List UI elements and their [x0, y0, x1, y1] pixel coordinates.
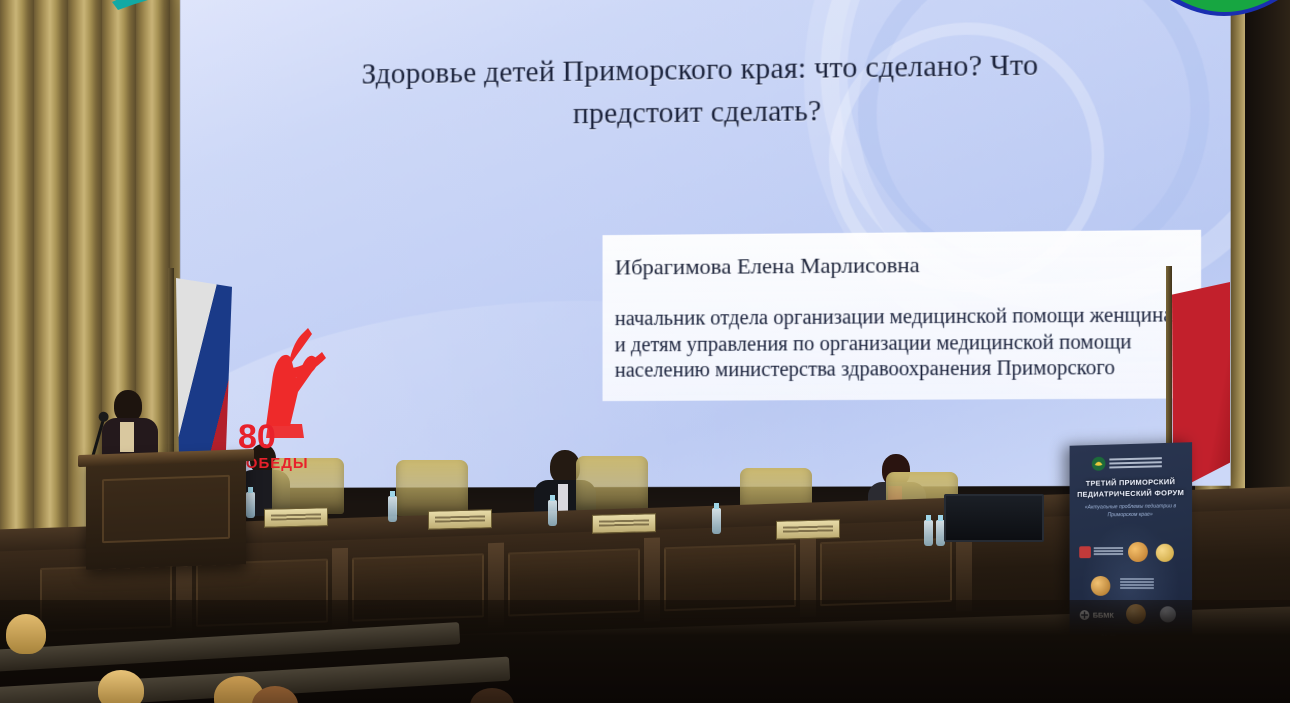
- water-bottle: [712, 508, 721, 534]
- water-bottle: [246, 492, 255, 518]
- podium-panel: [102, 475, 230, 543]
- primorsky-krai-tiger-emblem-icon: [1166, 0, 1282, 26]
- audience-head: [6, 614, 46, 654]
- audience-head: [470, 688, 514, 703]
- water-bottle: [548, 500, 557, 526]
- desk-nameplate: [264, 507, 328, 528]
- presidium-monitor: [944, 494, 1044, 542]
- audience-head: [98, 670, 144, 703]
- desk-nameplate: [592, 513, 656, 534]
- projection-screen: Здоровье детей Приморского края: что сде…: [180, 0, 1231, 488]
- banner-subtitle: «Актуальные проблемы педиатрии в Приморс…: [1077, 503, 1184, 520]
- banner-icon-round-c: [1091, 576, 1110, 596]
- audience-foreground: [0, 600, 1290, 703]
- speaker-info-box: Ибрагимова Елена Марлисовна начальник от…: [603, 230, 1202, 401]
- speaker-role: начальник отдела организации медицинской…: [615, 303, 1197, 385]
- presidium-chair: [396, 460, 468, 516]
- presidium-chair: [576, 456, 648, 512]
- banner-icon-round-a: [1128, 542, 1148, 562]
- banner-title-line-2: ПЕДИАТРИЧЕСКИЙ ФОРУМ: [1075, 488, 1186, 499]
- banner-title-line-1: ТРЕТИЙ ПРИМОРСКИЙ: [1075, 477, 1186, 488]
- water-bottle: [388, 496, 397, 522]
- slide-title: Здоровье детей Приморского края: что сде…: [310, 43, 1091, 138]
- conference-photo: Здоровье детей Приморского края: что сде…: [0, 0, 1290, 703]
- speaker-podium: [86, 452, 246, 570]
- banner-icon-swatch: [1079, 546, 1091, 558]
- ministry-of-health-logo-icon: [1091, 452, 1162, 474]
- desk-nameplate: [776, 519, 840, 540]
- desk-nameplate: [428, 509, 492, 530]
- banner-icon-round-b: [1156, 544, 1174, 562]
- teal-swoosh-logo-icon: [82, 0, 178, 20]
- water-bottle: [924, 520, 933, 546]
- speaker-name: Ибрагимова Елена Марлисовна: [615, 249, 1197, 280]
